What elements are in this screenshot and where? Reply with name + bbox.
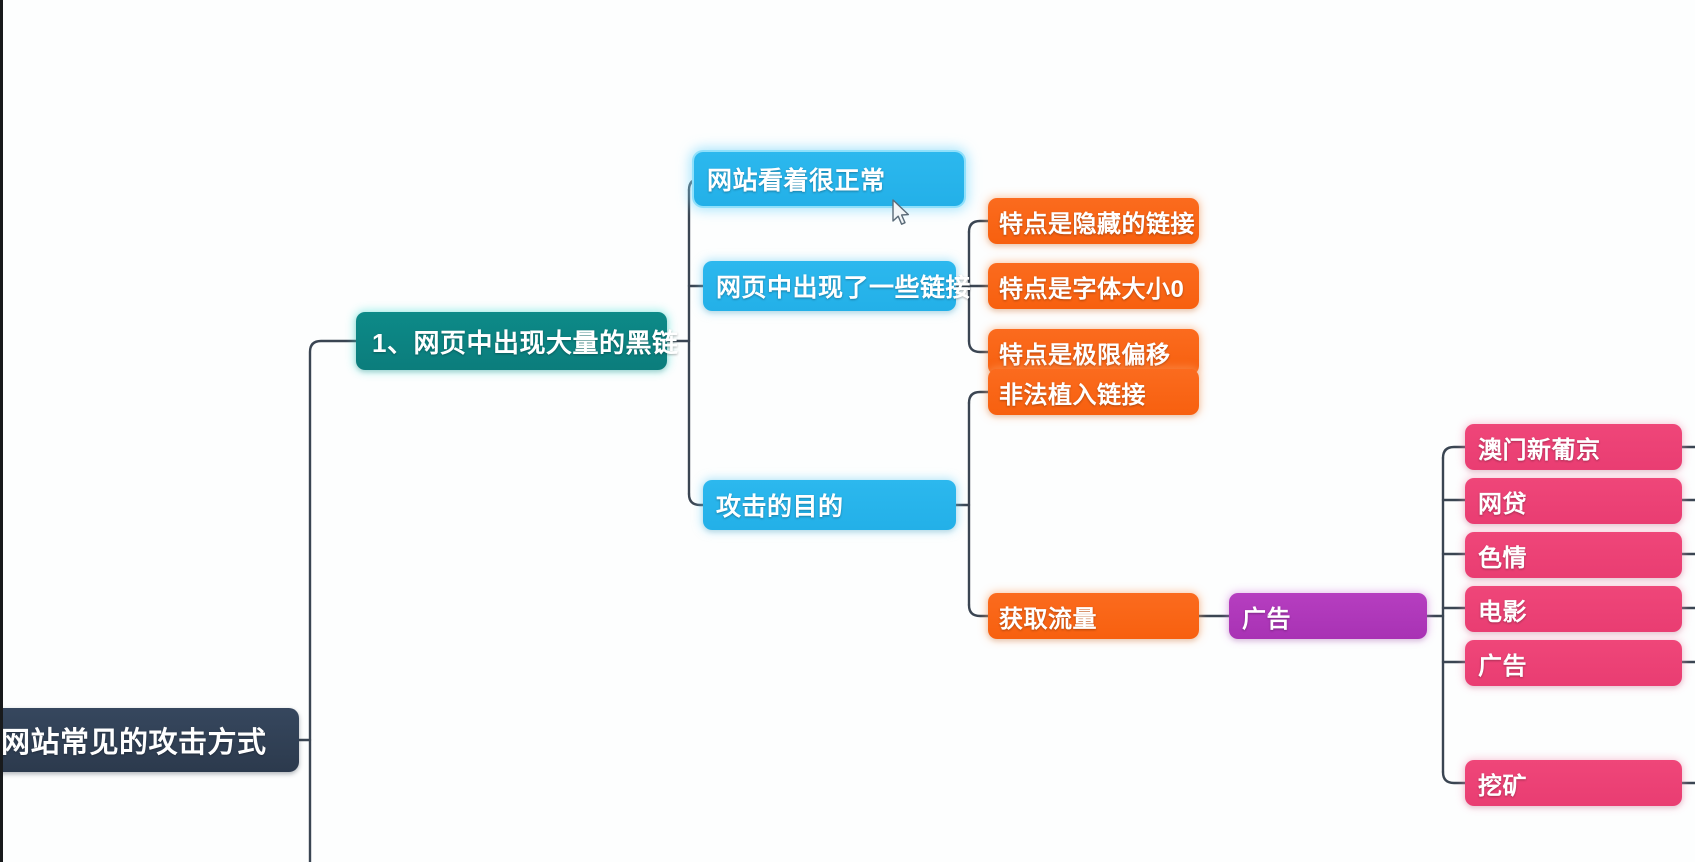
- node-label: 广告: [1478, 646, 1527, 681]
- node-label: 澳门新葡京: [1478, 430, 1601, 465]
- mindmap-node-root[interactable]: 网站常见的攻击方式: [0, 708, 299, 772]
- node-label: 网页中出现了一些链接: [716, 268, 971, 304]
- mindmap-node-level3-1[interactable]: 特点是字体大小0: [988, 263, 1199, 309]
- mindmap-node-level3-3[interactable]: 非法植入链接: [988, 369, 1199, 415]
- mindmap-node-level3-0[interactable]: 特点是隐藏的链接: [988, 198, 1199, 244]
- mindmap-canvas[interactable]: 网站常见的攻击方式 1、网页中出现大量的黑链 网站看着很正常 网页中出现了一些链…: [0, 0, 1695, 862]
- node-label: 1、网页中出现大量的黑链: [372, 323, 678, 360]
- mindmap-node-level1-0[interactable]: 1、网页中出现大量的黑链: [356, 312, 667, 370]
- edge-to-l3-1: [969, 221, 988, 232]
- node-label: 网站常见的攻击方式: [1, 719, 267, 761]
- mindmap-node-level5-4[interactable]: 广告: [1465, 640, 1682, 686]
- node-label: 特点是字体大小0: [999, 269, 1184, 304]
- edge-to-l2-3: [689, 494, 703, 505]
- mindmap-node-level4-0[interactable]: 广告: [1229, 593, 1427, 639]
- mindmap-node-level5-1[interactable]: 网贷: [1465, 478, 1682, 524]
- edge-to-l3-5: [969, 605, 988, 616]
- edge-to-l5-6: [1443, 772, 1465, 783]
- node-label: 广告: [1242, 599, 1291, 634]
- edge-to-l5-1: [1443, 447, 1465, 458]
- mindmap-node-level3-4[interactable]: 获取流量: [988, 593, 1199, 639]
- mindmap-node-level5-5[interactable]: 挖矿: [1465, 760, 1682, 806]
- node-label: 特点是极限偏移: [999, 335, 1171, 370]
- edge-to-l3-4: [969, 392, 988, 403]
- edge-root-to-level1: [310, 341, 356, 862]
- node-label: 获取流量: [999, 599, 1097, 634]
- node-label: 电影: [1478, 592, 1527, 627]
- mindmap-node-level2-1[interactable]: 网页中出现了一些链接: [703, 261, 956, 311]
- mindmap-node-level2-2[interactable]: 攻击的目的: [703, 480, 956, 530]
- mindmap-node-level2-0[interactable]: 网站看着很正常: [694, 152, 964, 206]
- mindmap-node-level5-3[interactable]: 电影: [1465, 586, 1682, 632]
- edge-to-l3-3: [969, 341, 988, 352]
- node-label: 攻击的目的: [716, 487, 844, 523]
- mindmap-node-level5-0[interactable]: 澳门新葡京: [1465, 424, 1682, 470]
- node-label: 网贷: [1478, 484, 1527, 519]
- mindmap-node-level5-2[interactable]: 色情: [1465, 532, 1682, 578]
- node-label: 色情: [1478, 538, 1527, 573]
- node-label: 挖矿: [1478, 766, 1527, 801]
- node-label: 网站看着很正常: [707, 161, 886, 197]
- node-label: 非法植入链接: [999, 375, 1146, 410]
- node-label: 特点是隐藏的链接: [999, 204, 1195, 239]
